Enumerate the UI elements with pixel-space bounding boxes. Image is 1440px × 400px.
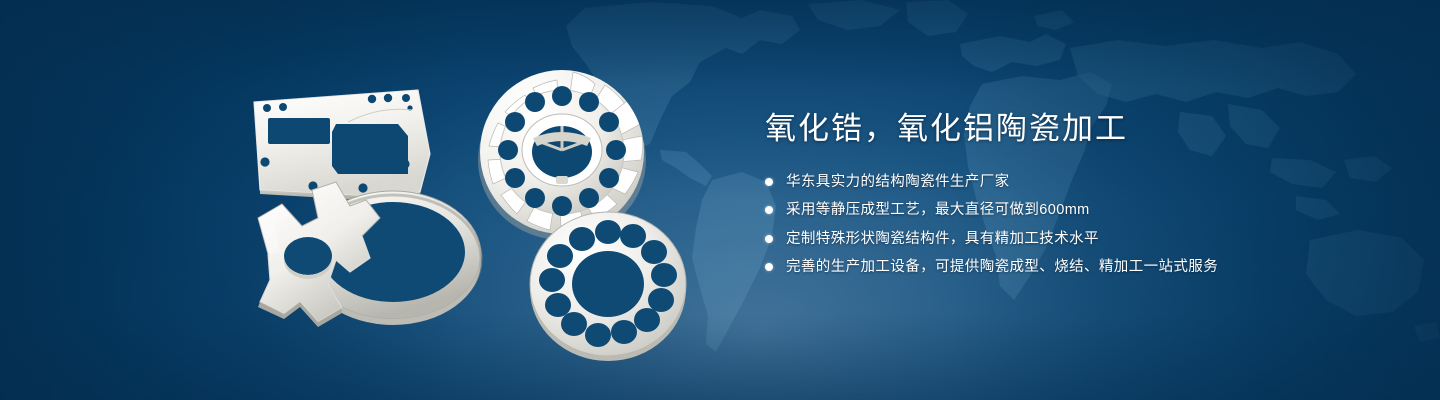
feature-text: 完善的生产加工设备，可提供陶瓷成型、烧结、精加工一站式服务 — [786, 256, 1218, 278]
bullet-dot-icon — [765, 206, 773, 214]
feature-item: 华东具实力的结构陶瓷件生产厂家 — [765, 171, 1385, 193]
hero-banner: 氧化锆，氧化铝陶瓷加工 华东具实力的结构陶瓷件生产厂家 采用等静压成型工艺，最大… — [0, 0, 1440, 400]
banner-feature-list: 华东具实力的结构陶瓷件生产厂家 采用等静压成型工艺，最大直径可做到600mm 定… — [765, 171, 1385, 279]
banner-headline: 氧化锆，氧化铝陶瓷加工 — [765, 110, 1385, 149]
bullet-dot-icon — [765, 235, 773, 243]
ceramic-products-image — [230, 40, 720, 380]
feature-text: 华东具实力的结构陶瓷件生产厂家 — [786, 171, 1010, 193]
bullet-dot-icon — [765, 178, 773, 186]
banner-copy: 氧化锆，氧化铝陶瓷加工 华东具实力的结构陶瓷件生产厂家 采用等静压成型工艺，最大… — [765, 110, 1385, 294]
feature-item: 采用等静压成型工艺，最大直径可做到600mm — [765, 199, 1385, 221]
ceramic-mounting-plate — [254, 90, 430, 202]
feature-item: 完善的生产加工设备，可提供陶瓷成型、烧结、精加工一站式服务 — [765, 256, 1385, 278]
feature-text: 采用等静压成型工艺，最大直径可做到600mm — [786, 199, 1090, 221]
feature-item: 定制特殊形状陶瓷结构件，具有精加工技术水平 — [765, 228, 1385, 250]
feature-text: 定制特殊形状陶瓷结构件，具有精加工技术水平 — [786, 228, 1099, 250]
ceramic-perforated-disc — [530, 212, 686, 361]
bullet-dot-icon — [765, 263, 773, 271]
